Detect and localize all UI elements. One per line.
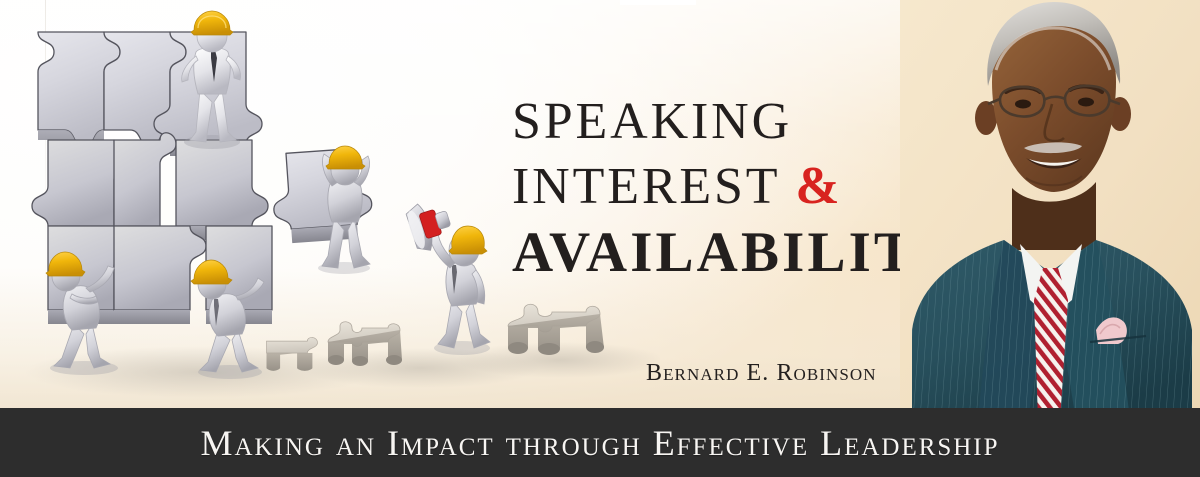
headline-block: SPEAKING INTEREST & AVAILABILITY bbox=[512, 96, 912, 281]
flat-puzzle-piece bbox=[508, 304, 604, 355]
tagline-text: Making an Impact through Effective Leade… bbox=[201, 422, 1000, 464]
headline-line-speaking: SPEAKING bbox=[512, 96, 912, 148]
headline-interest-text: INTEREST bbox=[512, 158, 779, 215]
puzzle-piece bbox=[114, 226, 206, 324]
headline-line-availability: AVAILABILITY bbox=[512, 224, 912, 281]
headline-ampersand: & bbox=[795, 157, 839, 215]
puzzle-piece bbox=[176, 140, 268, 240]
tagline-bar: Making an Impact through Effective Leade… bbox=[0, 408, 1200, 477]
speaker-portrait bbox=[900, 0, 1200, 420]
speaker-name: Bernard E. Robinson bbox=[646, 360, 877, 387]
megaphone-icon bbox=[403, 196, 456, 254]
hard-hat-icon bbox=[449, 226, 487, 254]
figure-with-megaphone bbox=[403, 196, 490, 355]
headline-line-interest: INTEREST & bbox=[512, 160, 912, 213]
speaking-banner: SPEAKING INTEREST & AVAILABILITY Bernard… bbox=[0, 0, 1200, 477]
flat-puzzle-piece bbox=[328, 322, 402, 366]
puzzle-piece bbox=[114, 133, 176, 226]
hard-hat-icon bbox=[191, 11, 233, 35]
